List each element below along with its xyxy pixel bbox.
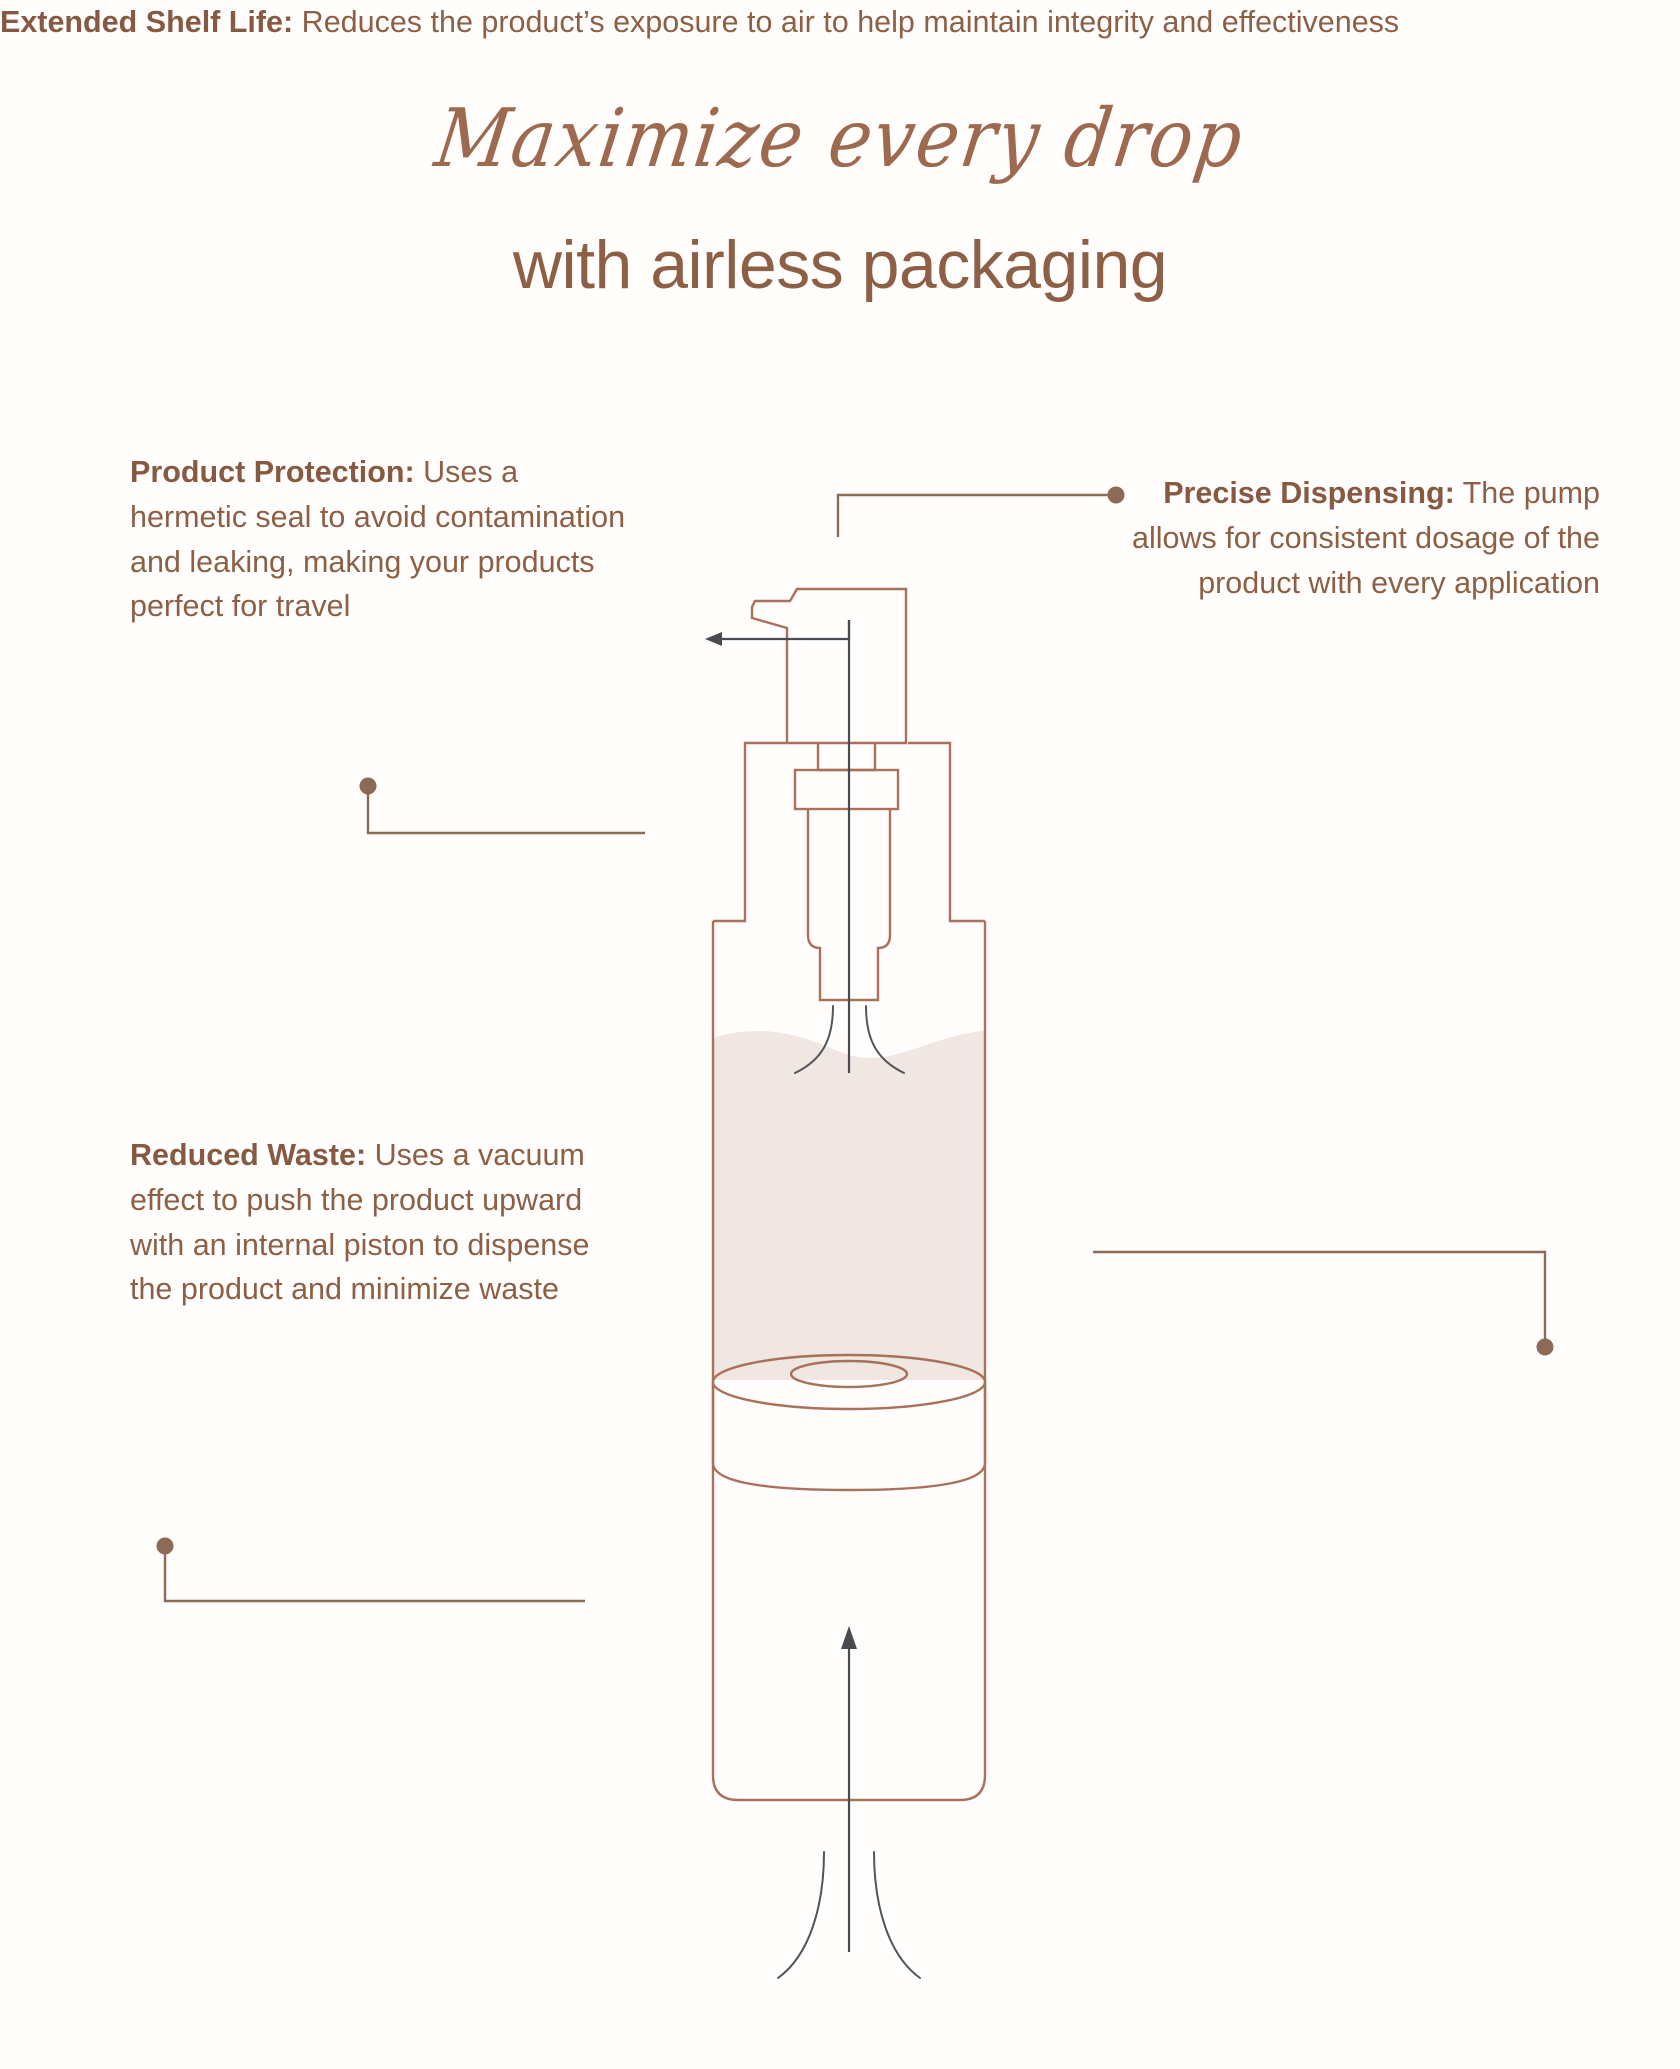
infographic-page: Maximize every drop with airless packagi… <box>0 0 1680 2069</box>
upward-airflow-arrow <box>778 1626 920 1978</box>
product-swirl-right <box>866 1006 904 1073</box>
callout-connectors <box>0 0 1680 2069</box>
callout-product-protection: Product Protection: Uses a hermetic seal… <box>130 450 640 629</box>
callout-heading: Extended Shelf Life: <box>0 5 293 39</box>
bottle-shoulder-right <box>908 743 985 921</box>
callout-extended-shelf-life: Extended Shelf Life: Reduces the product… <box>0 0 1399 45</box>
connector-precise-dispensing <box>838 487 1125 538</box>
pump-collar-stem <box>818 743 875 770</box>
product-liquid <box>700 1029 1000 1380</box>
dispense-arrow <box>705 620 849 646</box>
bottle-body-outline <box>713 921 985 1800</box>
connector-reduced-waste <box>157 1538 586 1602</box>
callout-heading: Reduced Waste: <box>130 1138 366 1172</box>
pump-collar <box>795 770 898 809</box>
callout-heading: Product Protection: <box>130 455 415 489</box>
connector-product-protection <box>360 778 646 834</box>
callout-precise-dispensing: Precise Dispensing: The pump allows for … <box>1100 471 1600 605</box>
connector-dot <box>157 1538 174 1555</box>
pump-chamber <box>808 809 890 1000</box>
bottle-shoulder-left <box>713 743 787 921</box>
product-swirl-left <box>795 1006 833 1073</box>
page-title-script: Maximize every drop <box>0 91 1680 185</box>
connector-dot <box>1537 1339 1554 1356</box>
internal-piston <box>713 1355 985 1490</box>
connector-extended-shelf-life <box>1093 1252 1554 1356</box>
connector-dot <box>360 778 377 795</box>
pump-actuator-nozzle <box>752 589 906 743</box>
callout-heading: Precise Dispensing: <box>1163 476 1455 510</box>
airless-bottle-diagram <box>0 0 1680 2069</box>
page-title-main: with airless packaging <box>0 226 1680 304</box>
callout-reduced-waste: Reduced Waste: Uses a vacuum effect to p… <box>130 1133 605 1312</box>
callout-body: Reduces the product’s exposure to air to… <box>293 5 1399 39</box>
